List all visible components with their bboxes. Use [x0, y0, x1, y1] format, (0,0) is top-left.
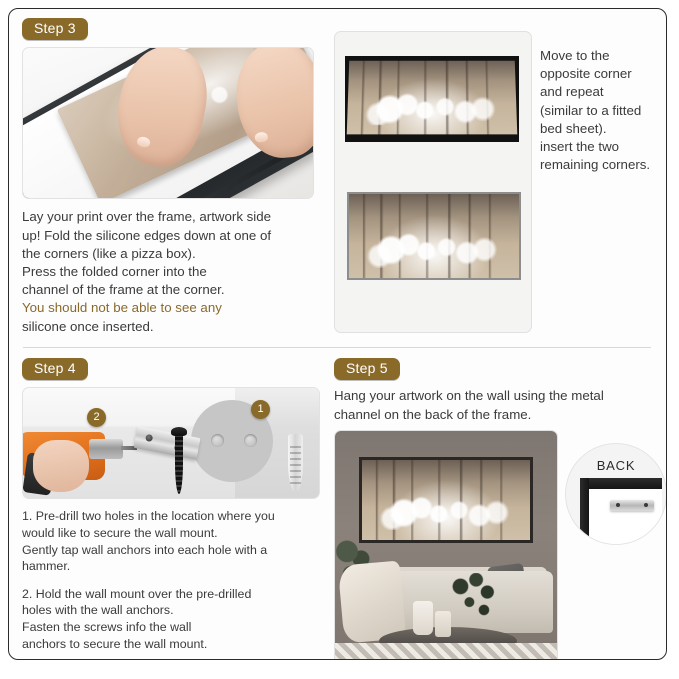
section-divider — [23, 347, 651, 348]
step-5-badge: Step 5 — [334, 358, 400, 380]
step-3-left-column: Step 3 Lay your print over the frame, ar… — [22, 18, 327, 336]
bracket-screw-hole-1 — [145, 434, 153, 442]
step-5-text-block: Hang your artwork on the wall using the … — [334, 387, 656, 423]
channel-screw-1 — [616, 503, 620, 507]
step-3-instructions: Lay your print over the frame, artwork s… — [22, 208, 327, 299]
step-4-text-block: 1. Pre-drill two holes in the location w… — [22, 508, 330, 652]
step-3-text-block: Lay your print over the frame, artwork s… — [22, 208, 327, 335]
hung-artwork — [359, 457, 533, 543]
step-3-instructions-cont: silicone once inserted. — [22, 318, 327, 336]
step-3-highlight: You should not be able to see any — [22, 299, 327, 317]
back-detail-callout: BACK — [566, 444, 666, 544]
channel-screw-2 — [644, 503, 648, 507]
artwork-panel-container — [334, 31, 532, 333]
step-5-column: Step 5 Hang your artwork on the wall usi… — [334, 358, 656, 660]
step-3-artwork-panels — [334, 31, 530, 331]
back-callout-label: BACK — [566, 458, 666, 473]
step-3-badge: Step 3 — [22, 18, 88, 40]
forest-print-loose — [347, 61, 518, 135]
steps-4-5-section: Step 4 2 1 — [9, 350, 666, 660]
artwork-panel-finished — [347, 192, 521, 280]
step-4-paragraph-1: 1. Pre-drill two holes in the location w… — [22, 508, 330, 574]
step-3-section: Step 3 Lay your print over the frame, ar… — [9, 9, 666, 340]
fingernail — [136, 136, 151, 148]
step-5-photo — [334, 430, 558, 660]
fingernail — [254, 132, 268, 143]
wall-anchor-icon — [288, 434, 303, 492]
step-5-instructions: Hang your artwork on the wall using the … — [334, 387, 656, 423]
step-4-photo: 2 1 — [22, 387, 320, 499]
drill-chuck — [89, 439, 123, 459]
screw-icon — [175, 432, 183, 494]
step-3-side-note-column: Move to the opposite corner and repeat (… — [540, 47, 660, 174]
step-5-photo-wrap: BACK — [334, 430, 656, 660]
step-4-badge: Step 4 — [22, 358, 88, 380]
step-3-photo — [22, 47, 314, 199]
frame-back-view — [580, 478, 662, 544]
floor-rug — [335, 643, 557, 660]
step-3-side-note: Move to the opposite corner and repeat (… — [540, 47, 660, 174]
decorative-branch — [447, 573, 503, 629]
hand-holding-drill — [33, 440, 89, 492]
artwork-panel-loose — [345, 56, 519, 142]
candle-vase-1 — [413, 601, 433, 635]
step-4-paragraph-2: 2. Hold the wall mount over the pre-dril… — [22, 586, 330, 652]
metal-channel-icon — [610, 500, 654, 511]
step-4-column: Step 4 2 1 — [22, 358, 330, 652]
instruction-sheet: Step 3 Lay your print over the frame, ar… — [8, 8, 667, 660]
